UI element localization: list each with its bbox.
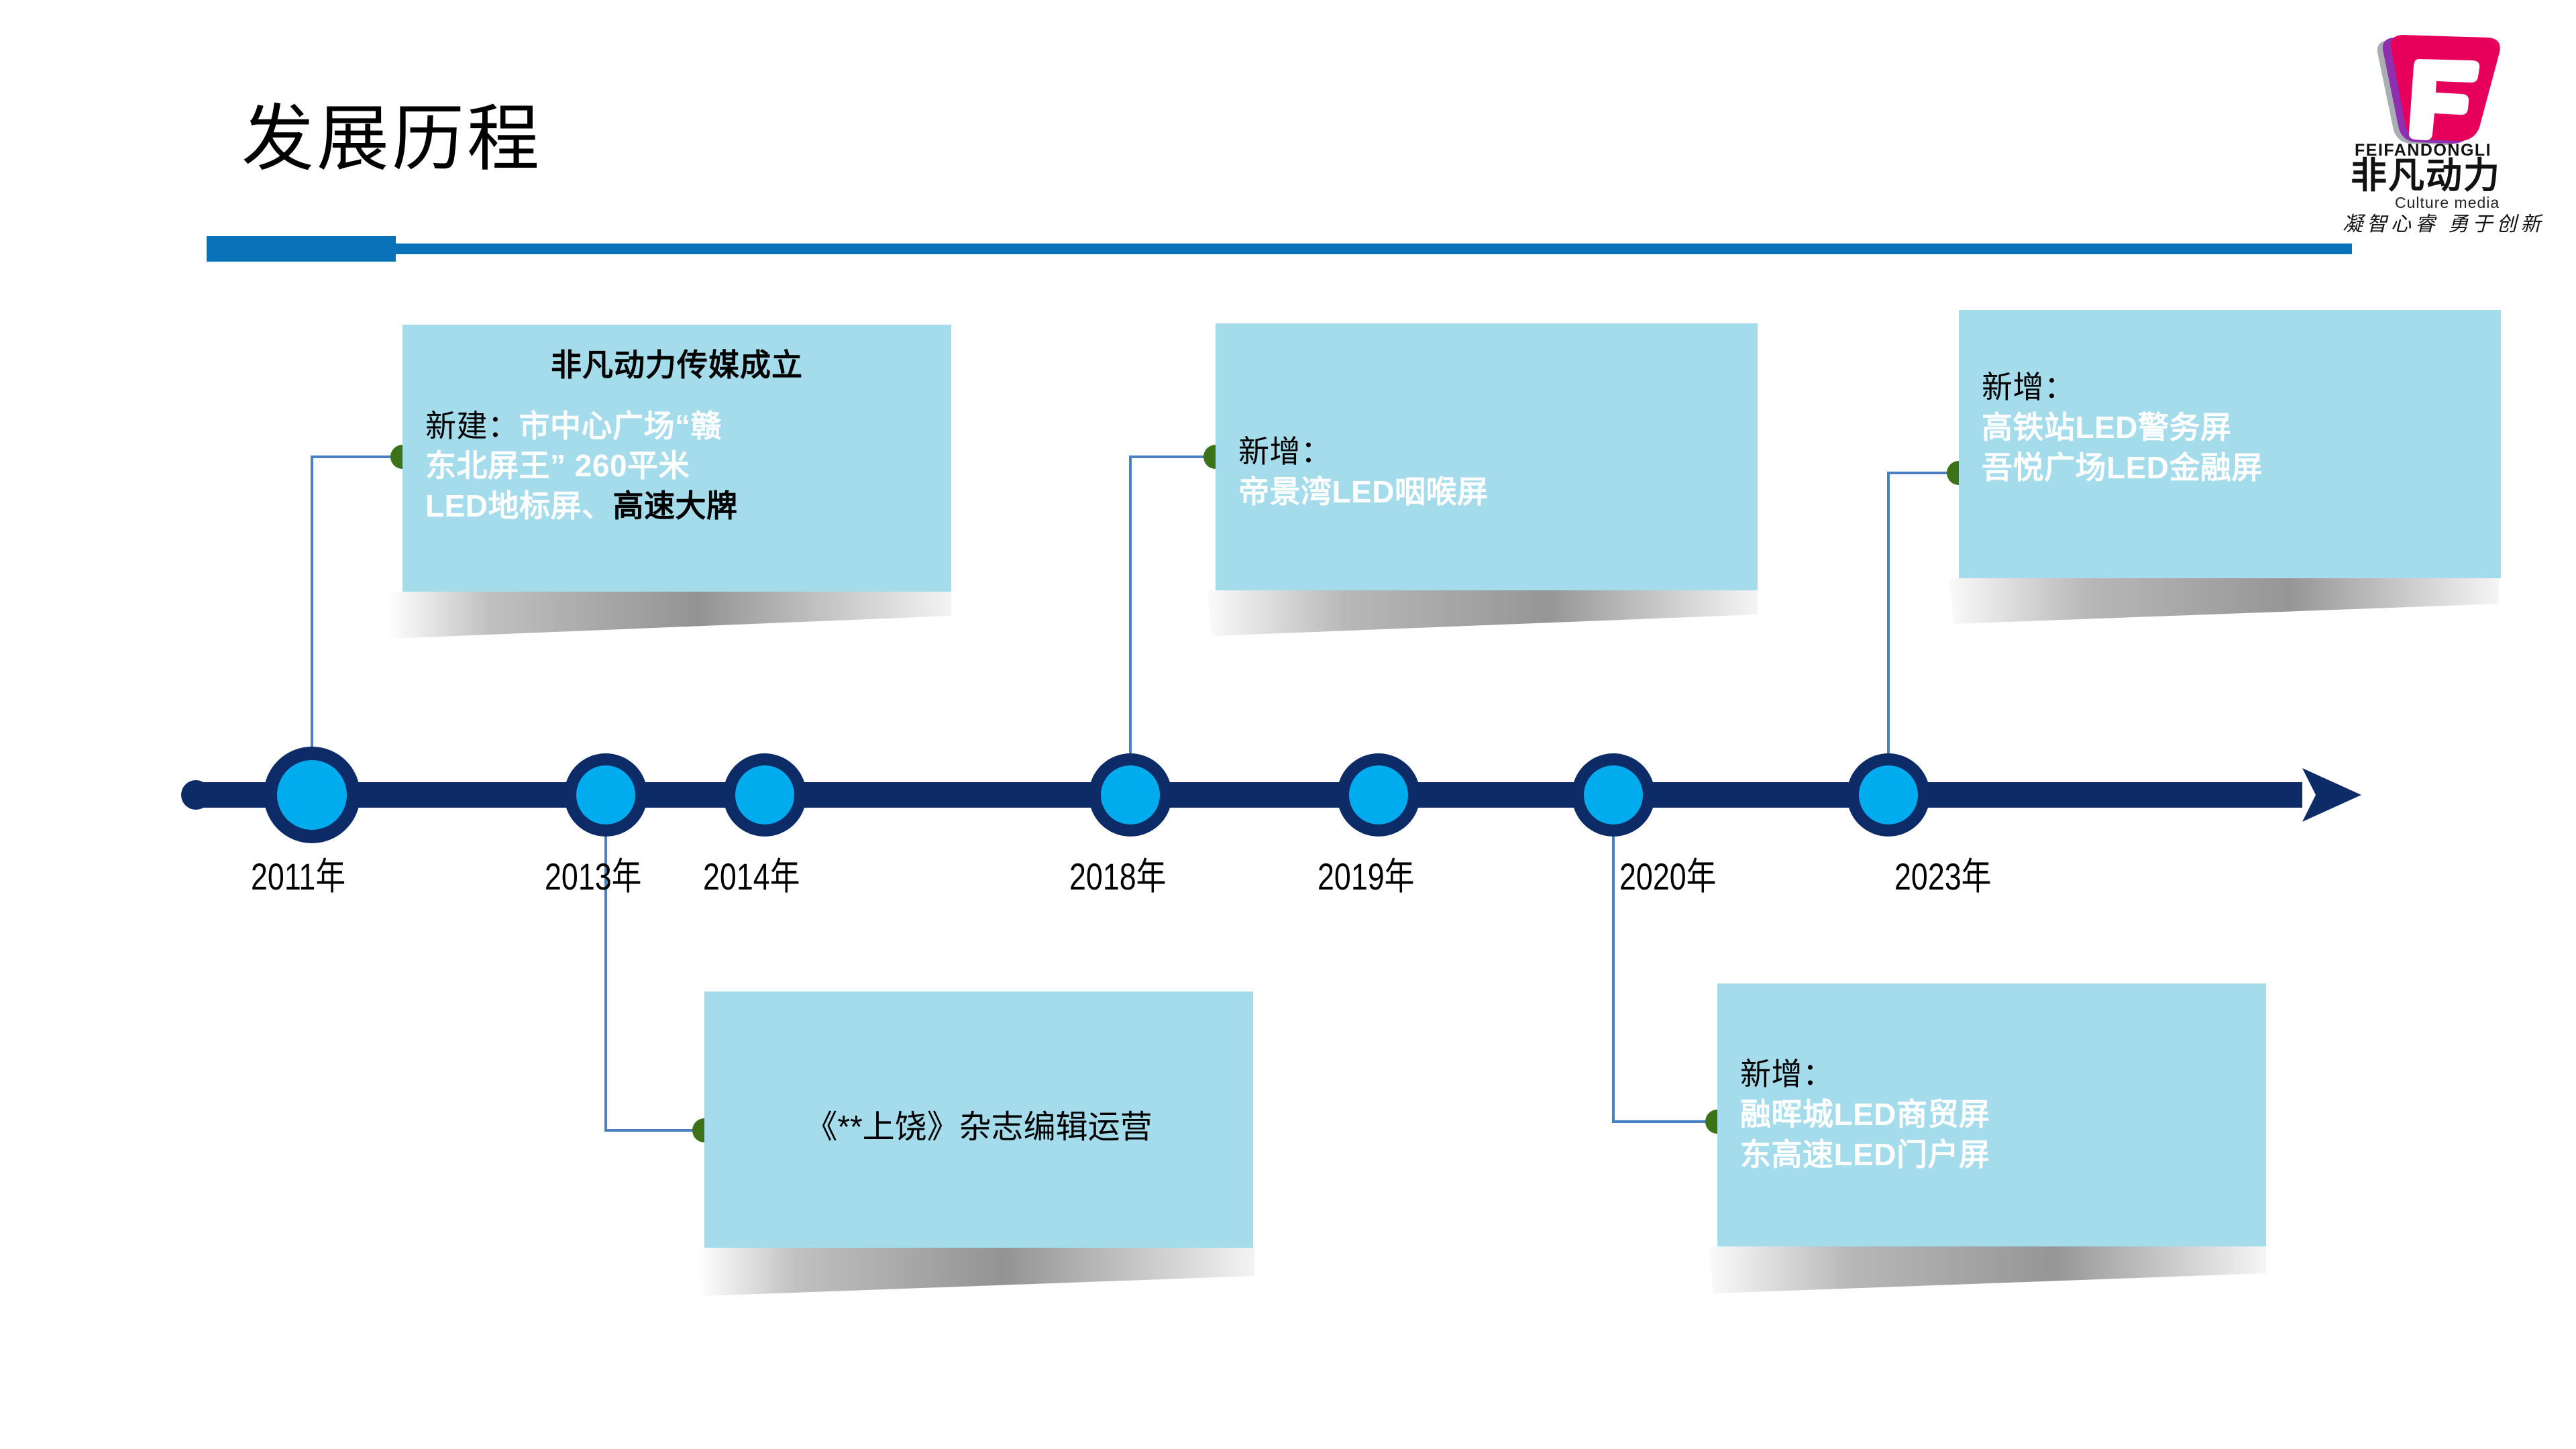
logo-tagline-en: Culture media — [2395, 194, 2500, 211]
slide-canvas: 发展历程 FEIFANDONGLI 非凡动力 Culture media 凝智心… — [0, 0, 2576, 1449]
callout-2018-line-1: 帝景湾LED咽喉屏 — [1238, 472, 1735, 513]
logo-brand-cn: 非凡动力 — [2351, 156, 2501, 196]
callout-2023-lead: 新增： — [1982, 368, 2478, 408]
timeline-axis — [181, 768, 2361, 822]
year-label-2014: 2014年 — [703, 847, 800, 901]
year-label-2011: 2011年 — [251, 847, 345, 901]
timeline-nodes — [264, 747, 1930, 843]
callout-2011-line-1: 新建：市中心广场“赣 — [425, 407, 928, 447]
connector-2020 — [1613, 795, 1717, 1122]
callout-2023-line-1: 高铁站LED警务屏 — [1982, 408, 2478, 448]
node-2020 — [1572, 753, 1655, 837]
title-divider-line — [396, 244, 2352, 254]
callout-2020-line-2: 东高速LED门户屏 — [1740, 1135, 2243, 1175]
callout-2018-lead: 新增： — [1238, 432, 1735, 472]
callout-2013: 《**上饶》杂志编辑运营 — [704, 991, 1253, 1248]
node-2014 — [723, 753, 806, 837]
callout-2011-line-3: LED地标屏、高速大牌 — [425, 486, 928, 527]
callout-2023: 新增： 高铁站LED警务屏 吾悦广场LED金融屏 — [1959, 310, 2501, 578]
connector-2023 — [1888, 473, 1959, 795]
axis-start-cap — [181, 780, 211, 810]
callout-2020-line-1: 融晖城LED商贸屏 — [1740, 1095, 2243, 1135]
node-2019 — [1337, 753, 1420, 837]
year-label-2020: 2020年 — [1619, 847, 1716, 901]
year-label-2013: 2013年 — [545, 847, 641, 901]
axis-line — [196, 782, 2302, 808]
node-2011 — [264, 747, 360, 843]
callout-2011-line-2: 东北屏王” 260平米 — [425, 446, 928, 486]
title-accent-block — [207, 236, 396, 262]
company-logo: FEIFANDONGLI 非凡动力 Culture media 凝智心睿 勇于创… — [2334, 12, 2569, 233]
axis-arrow-icon — [2302, 768, 2361, 822]
logo-tagline-cn: 凝智心睿 勇于创新 — [2343, 213, 2545, 233]
callout-2013-text: 《**上饶》杂志编辑运营 — [727, 1107, 1230, 1148]
year-label-2018: 2018年 — [1069, 847, 1166, 901]
callout-2011-title: 非凡动力传媒成立 — [425, 346, 928, 385]
node-2023 — [1847, 753, 1930, 837]
logo-mark-icon: FEIFANDONGLI 非凡动力 Culture media 凝智心睿 勇于创… — [2334, 12, 2569, 233]
connector-2018 — [1130, 457, 1216, 795]
callout-2018: 新增： 帝景湾LED咽喉屏 — [1216, 323, 1758, 590]
node-2018 — [1089, 753, 1172, 837]
node-2013 — [564, 753, 647, 837]
year-label-2023: 2023年 — [1894, 847, 1991, 901]
callout-2020-lead: 新增： — [1740, 1055, 2243, 1095]
connector-2013 — [606, 795, 704, 1130]
callout-2023-line-2: 吾悦广场LED金融屏 — [1982, 448, 2478, 488]
callout-2020: 新增： 融晖城LED商贸屏 东高速LED门户屏 — [1717, 983, 2266, 1246]
year-label-2019: 2019年 — [1318, 847, 1414, 901]
connector-2011 — [312, 457, 402, 795]
callout-2011: 非凡动力传媒成立 新建：市中心广场“赣 东北屏王” 260平米 LED地标屏、高… — [402, 325, 951, 592]
page-title: 发展历程 — [241, 101, 542, 176]
